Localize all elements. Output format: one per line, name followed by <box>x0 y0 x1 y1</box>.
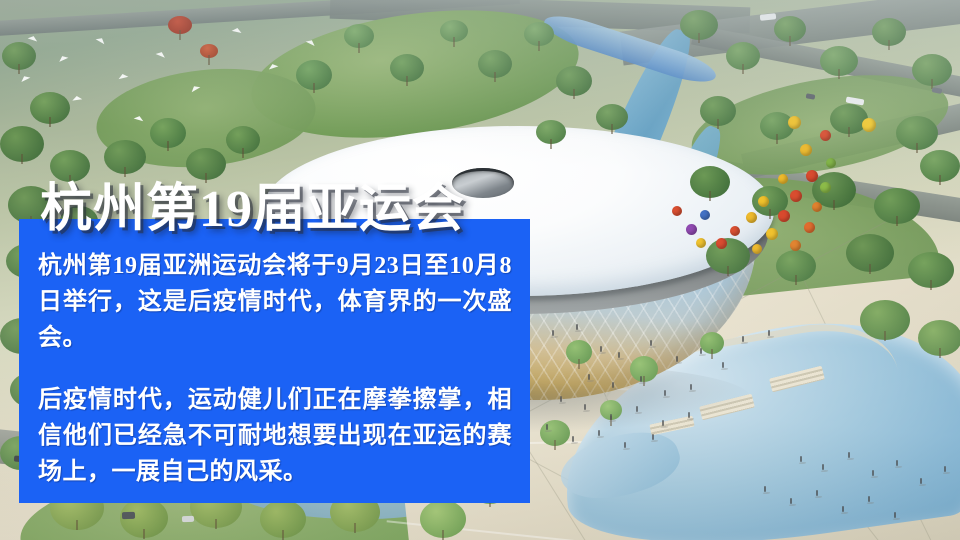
car <box>182 516 194 522</box>
playground-sphere <box>778 210 790 222</box>
pedestrian <box>816 490 818 496</box>
tree <box>918 320 960 356</box>
pedestrian <box>944 466 946 472</box>
pedestrian <box>790 498 792 504</box>
pedestrian <box>920 478 922 484</box>
pedestrian <box>848 452 850 458</box>
pedestrian <box>664 390 666 396</box>
page-title: 杭州第19届亚运会 <box>40 182 465 238</box>
pedestrian <box>584 404 586 410</box>
tree <box>226 126 260 154</box>
bird-sculpture-icon <box>232 27 243 33</box>
playground-sphere <box>800 144 812 156</box>
tree <box>776 250 816 282</box>
text-panel-content: 杭州第19届亚洲运动会将于9月23日至10月8日举行，这是后疫情时代，体育界的一… <box>19 248 530 490</box>
pedestrian <box>700 348 702 354</box>
tree <box>774 16 806 42</box>
playground-sphere <box>700 210 710 220</box>
bird-sculpture-icon <box>20 74 31 82</box>
car <box>122 512 135 519</box>
pedestrian <box>636 406 638 412</box>
playground-sphere <box>696 238 706 248</box>
tree-plaza <box>566 340 592 364</box>
tree <box>104 140 146 174</box>
playground-sphere <box>672 206 682 216</box>
playground-sphere <box>730 226 740 236</box>
presentation-slide: 杭州第19届亚运会 杭州第19届亚洲运动会将于9月23日至10月8日举行，这是后… <box>0 0 960 540</box>
pedestrian <box>742 336 744 342</box>
pedestrian <box>588 374 590 380</box>
tree <box>50 150 90 182</box>
playground-sphere <box>790 190 802 202</box>
tree-plaza <box>540 420 570 446</box>
pedestrian <box>800 456 802 462</box>
pedestrian <box>572 436 574 442</box>
pedestrian <box>842 506 844 512</box>
tree <box>260 500 306 538</box>
pedestrian <box>650 340 652 346</box>
playground-sphere <box>820 130 831 141</box>
playground-sphere <box>778 174 788 184</box>
bird-sculpture-icon <box>156 50 167 57</box>
tree <box>478 50 512 78</box>
tree <box>908 252 954 288</box>
tree <box>860 300 910 340</box>
tree <box>296 60 332 90</box>
tree <box>846 234 894 272</box>
tree-plaza <box>420 500 466 538</box>
pedestrian <box>768 330 770 336</box>
pedestrian <box>652 434 654 440</box>
pedestrian <box>822 464 824 470</box>
tree <box>2 42 36 70</box>
tree <box>680 10 718 40</box>
tree <box>30 92 70 124</box>
playground-sphere <box>862 118 876 132</box>
playground-sphere <box>752 244 762 254</box>
tree <box>700 96 736 126</box>
bird-sculpture-icon <box>96 36 107 44</box>
pedestrian <box>640 376 642 382</box>
pedestrian <box>610 414 612 420</box>
playground-sphere <box>686 224 697 235</box>
tree-plaza <box>700 332 724 354</box>
tree <box>344 24 374 48</box>
tree <box>556 66 592 96</box>
pedestrian <box>688 412 690 418</box>
pedestrian <box>690 384 692 390</box>
tree-autumn <box>200 44 218 58</box>
pedestrian <box>764 486 766 492</box>
bird-sculpture-icon <box>28 35 39 42</box>
tree-autumn <box>168 16 192 34</box>
playground-sphere <box>806 170 818 182</box>
tree <box>920 150 960 182</box>
playground-sphere <box>746 212 757 223</box>
pedestrian <box>576 324 578 330</box>
tree <box>186 148 226 180</box>
tree-plaza <box>630 356 658 382</box>
playground-sphere <box>826 158 836 168</box>
tree <box>536 120 566 144</box>
tree <box>874 188 920 224</box>
bird-sculpture-icon <box>118 73 129 79</box>
playground-sphere <box>758 196 769 207</box>
bird-sculpture-icon <box>72 95 82 100</box>
tree <box>872 18 906 46</box>
pedestrian <box>598 430 600 436</box>
tree <box>596 104 628 130</box>
pedestrian <box>600 346 602 352</box>
tree <box>390 54 424 82</box>
pedestrian <box>560 396 562 402</box>
tree <box>820 46 858 76</box>
tree <box>524 22 554 46</box>
playground-sphere <box>812 202 822 212</box>
tree <box>690 166 730 198</box>
pedestrian <box>676 356 678 362</box>
pedestrian <box>552 330 554 336</box>
pedestrian <box>872 470 874 476</box>
playground-sphere <box>790 240 801 251</box>
tree <box>440 20 468 42</box>
tree <box>706 238 750 274</box>
tree <box>726 42 760 70</box>
bird-sculpture-icon <box>58 54 69 62</box>
pedestrian <box>612 382 614 388</box>
pedestrian <box>868 496 870 502</box>
playground-sphere <box>820 182 831 193</box>
playground-sphere <box>788 116 801 129</box>
paragraph-spacer <box>38 356 512 382</box>
pedestrian <box>894 512 896 518</box>
pedestrian <box>618 352 620 358</box>
tree <box>912 54 952 86</box>
playground-sphere <box>766 228 778 240</box>
tree <box>830 104 868 134</box>
pedestrian <box>624 442 626 448</box>
tree <box>150 118 186 148</box>
tree <box>0 126 44 162</box>
paragraph-1: 杭州第19届亚洲运动会将于9月23日至10月8日举行，这是后疫情时代，体育界的一… <box>38 248 512 356</box>
playground-sphere <box>716 238 727 249</box>
playground-sphere <box>804 222 815 233</box>
pedestrian <box>546 424 548 430</box>
tree <box>896 116 938 150</box>
pedestrian <box>662 420 664 426</box>
paragraph-2: 后疫情时代，运动健儿们正在摩拳擦掌，相信他们已经急不可耐地想要出现在亚运的赛场上… <box>38 382 512 490</box>
pedestrian <box>722 362 724 368</box>
pedestrian <box>896 460 898 466</box>
